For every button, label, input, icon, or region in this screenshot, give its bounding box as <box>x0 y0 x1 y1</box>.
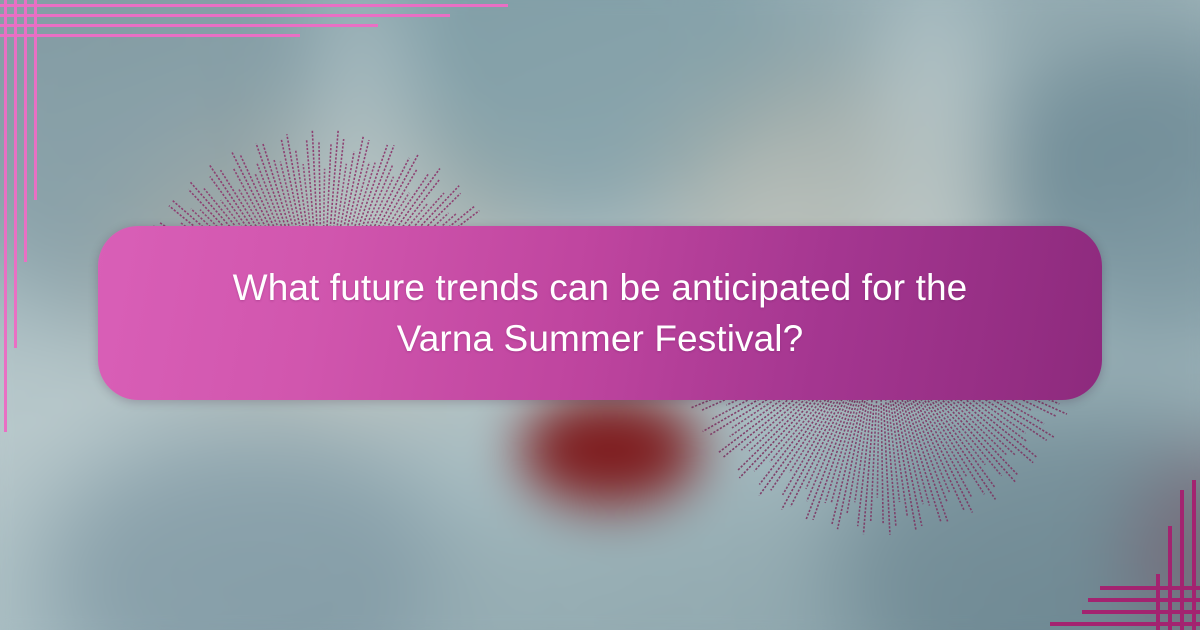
corner-bracket-line <box>0 14 450 17</box>
sunburst-ray <box>914 396 973 512</box>
headline-card: What future trends can be anticipated fo… <box>98 226 1102 400</box>
corner-bracket-line <box>24 0 27 262</box>
corner-bracket-line <box>1168 526 1172 630</box>
corner-bracket-bottom-right <box>1030 460 1200 630</box>
sunburst-ray <box>895 402 921 526</box>
sunburst-ray <box>771 389 840 491</box>
screenshot-canvas: What future trends can be anticipated fo… <box>0 0 1200 630</box>
corner-bracket-line <box>1156 574 1160 630</box>
corner-bracket-line <box>1088 598 1200 602</box>
sunburst-ray <box>789 392 840 472</box>
corner-bracket-line <box>14 0 17 348</box>
corner-bracket-line <box>0 24 378 27</box>
corner-bracket-line <box>4 0 7 432</box>
corner-bracket-line <box>0 34 300 37</box>
corner-bracket-line <box>1100 586 1200 590</box>
corner-bracket-line <box>1050 622 1200 626</box>
sunburst-ray <box>832 400 863 525</box>
sunburst-ray <box>806 400 853 519</box>
corner-bracket-line <box>0 4 508 7</box>
corner-bracket-line <box>1180 490 1184 630</box>
corner-bracket-line <box>1192 480 1196 630</box>
sunburst-ray <box>884 405 890 535</box>
corner-bracket-line <box>34 0 37 200</box>
headline-text: What future trends can be anticipated fo… <box>176 262 1024 364</box>
sunburst-ray <box>877 406 878 498</box>
sunburst-ray <box>881 396 883 523</box>
